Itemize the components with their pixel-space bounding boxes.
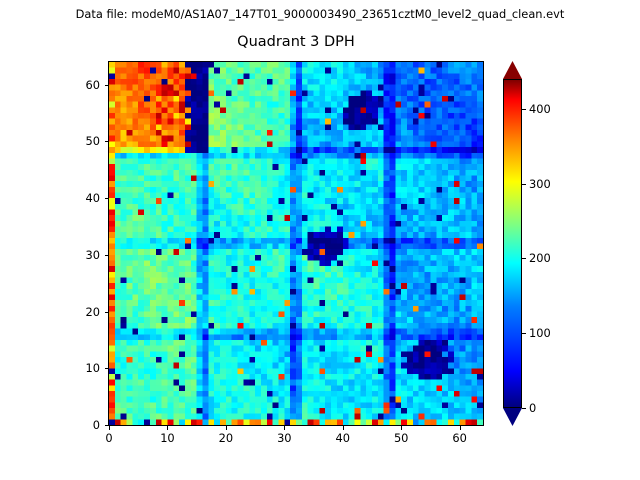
y-tick-mark xyxy=(105,255,109,256)
x-tick-mark xyxy=(460,426,461,430)
colorbar-tick-label: 400 xyxy=(529,102,551,116)
y-tick-mark xyxy=(105,425,109,426)
x-tick-mark xyxy=(167,426,168,430)
x-tick-label: 10 xyxy=(147,431,187,445)
colorbar-gradient xyxy=(503,79,522,408)
data-file-suptitle: Data file: modeM0/AS1A07_147T01_90000034… xyxy=(0,7,640,21)
y-tick-label: 30 xyxy=(62,248,100,262)
colorbar-tick-mark xyxy=(522,408,526,409)
y-tick-label: 40 xyxy=(62,191,100,205)
heatmap-axes[interactable] xyxy=(108,61,484,426)
colorbar-under-arrow xyxy=(503,408,522,426)
colorbar-tick-label: 200 xyxy=(529,251,551,265)
y-tick-label: 10 xyxy=(62,361,100,375)
x-tick-mark xyxy=(284,426,285,430)
x-tick-mark xyxy=(226,426,227,430)
x-tick-mark xyxy=(343,426,344,430)
x-tick-mark xyxy=(401,426,402,430)
y-tick-mark xyxy=(105,198,109,199)
x-tick-label: 50 xyxy=(381,431,421,445)
y-tick-label: 0 xyxy=(62,418,100,432)
page-title: Quadrant 3 DPH xyxy=(108,33,484,51)
x-tick-label: 40 xyxy=(323,431,363,445)
colorbar-over-arrow xyxy=(503,61,522,79)
y-tick-mark xyxy=(105,312,109,313)
x-tick-label: 60 xyxy=(440,431,480,445)
colorbar-tick-mark xyxy=(522,333,526,334)
heatmap-image[interactable] xyxy=(109,62,483,425)
x-tick-label: 30 xyxy=(264,431,304,445)
y-tick-label: 20 xyxy=(62,305,100,319)
colorbar-tick-mark xyxy=(522,184,526,185)
y-tick-label: 50 xyxy=(62,134,100,148)
colorbar-tick-mark xyxy=(522,258,526,259)
colorbar-tick-label: 0 xyxy=(529,401,536,415)
colorbar-tick-label: 100 xyxy=(529,326,551,340)
x-tick-label: 20 xyxy=(206,431,246,445)
y-tick-mark xyxy=(105,141,109,142)
x-tick-mark xyxy=(109,426,110,430)
colorbar-tick-label: 300 xyxy=(529,177,551,191)
colorbar[interactable] xyxy=(503,61,522,426)
y-tick-label: 60 xyxy=(62,78,100,92)
figure-canvas: Data file: modeM0/AS1A07_147T01_90000034… xyxy=(0,0,640,480)
colorbar-tick-mark xyxy=(522,109,526,110)
y-tick-mark xyxy=(105,368,109,369)
x-tick-label: 0 xyxy=(89,431,129,445)
y-tick-mark xyxy=(105,85,109,86)
